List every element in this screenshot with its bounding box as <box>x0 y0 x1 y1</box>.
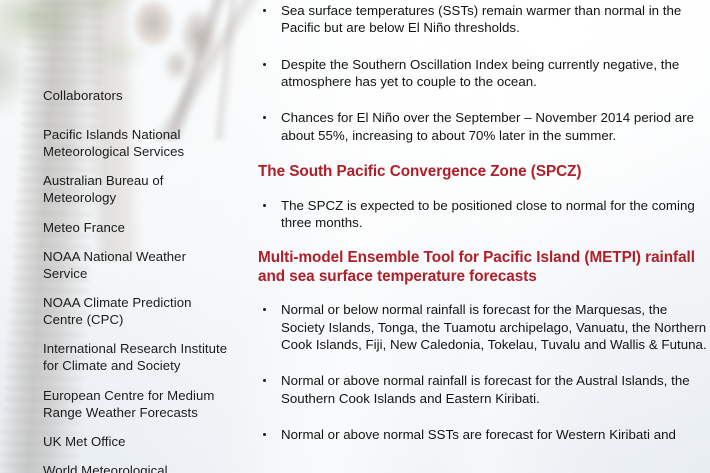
bullet-item: Normal or below normal rainfall is forec… <box>258 301 710 353</box>
collaborator-item: Australian Bureau of Meteorology <box>43 172 231 206</box>
metpi-bullet-list: Normal or below normal rainfall is forec… <box>258 301 710 443</box>
bullet-item: Despite the Southern Oscillation Index b… <box>258 56 710 91</box>
metpi-section-heading: Multi-model Ensemble Tool for Pacific Is… <box>258 249 710 287</box>
bullet-item: Normal or above normal rainfall is forec… <box>258 372 710 407</box>
bullet-item: Chances for El Niño over the September –… <box>258 109 710 144</box>
collaborators-sidebar: Collaborators Pacific Islands National M… <box>43 88 231 473</box>
collaborators-heading: Collaborators <box>43 88 231 105</box>
collaborator-item: UK Met Office <box>43 433 231 450</box>
page-content: Collaborators Pacific Islands National M… <box>0 0 710 473</box>
bullet-item: Sea surface temperatures (SSTs) remain w… <box>258 2 710 37</box>
collaborator-item: Meteo France <box>43 219 231 236</box>
collaborator-item: European Centre for Medium Range Weather… <box>43 387 231 421</box>
collaborator-item: World Meteorological <box>43 462 231 473</box>
bullet-item: Normal or above normal SSTs are forecast… <box>258 426 710 443</box>
collaborator-item: NOAA National Weather Service <box>43 248 231 282</box>
spcz-bullet-list: The SPCZ is expected to be positioned cl… <box>258 197 710 232</box>
document-page: Collaborators Pacific Islands National M… <box>0 0 710 473</box>
collaborator-item: NOAA Climate Prediction Centre (CPC) <box>43 294 231 328</box>
bullet-item: The SPCZ is expected to be positioned cl… <box>258 197 710 232</box>
main-column: Sea surface temperatures (SSTs) remain w… <box>258 0 710 462</box>
collaborator-item: International Research Institute for Cli… <box>43 340 231 374</box>
enso-bullet-list: Sea surface temperatures (SSTs) remain w… <box>258 2 710 144</box>
spcz-section-heading: The South Pacific Convergence Zone (SPCZ… <box>258 163 710 182</box>
collaborator-item: Pacific Islands National Meteorological … <box>43 126 231 160</box>
